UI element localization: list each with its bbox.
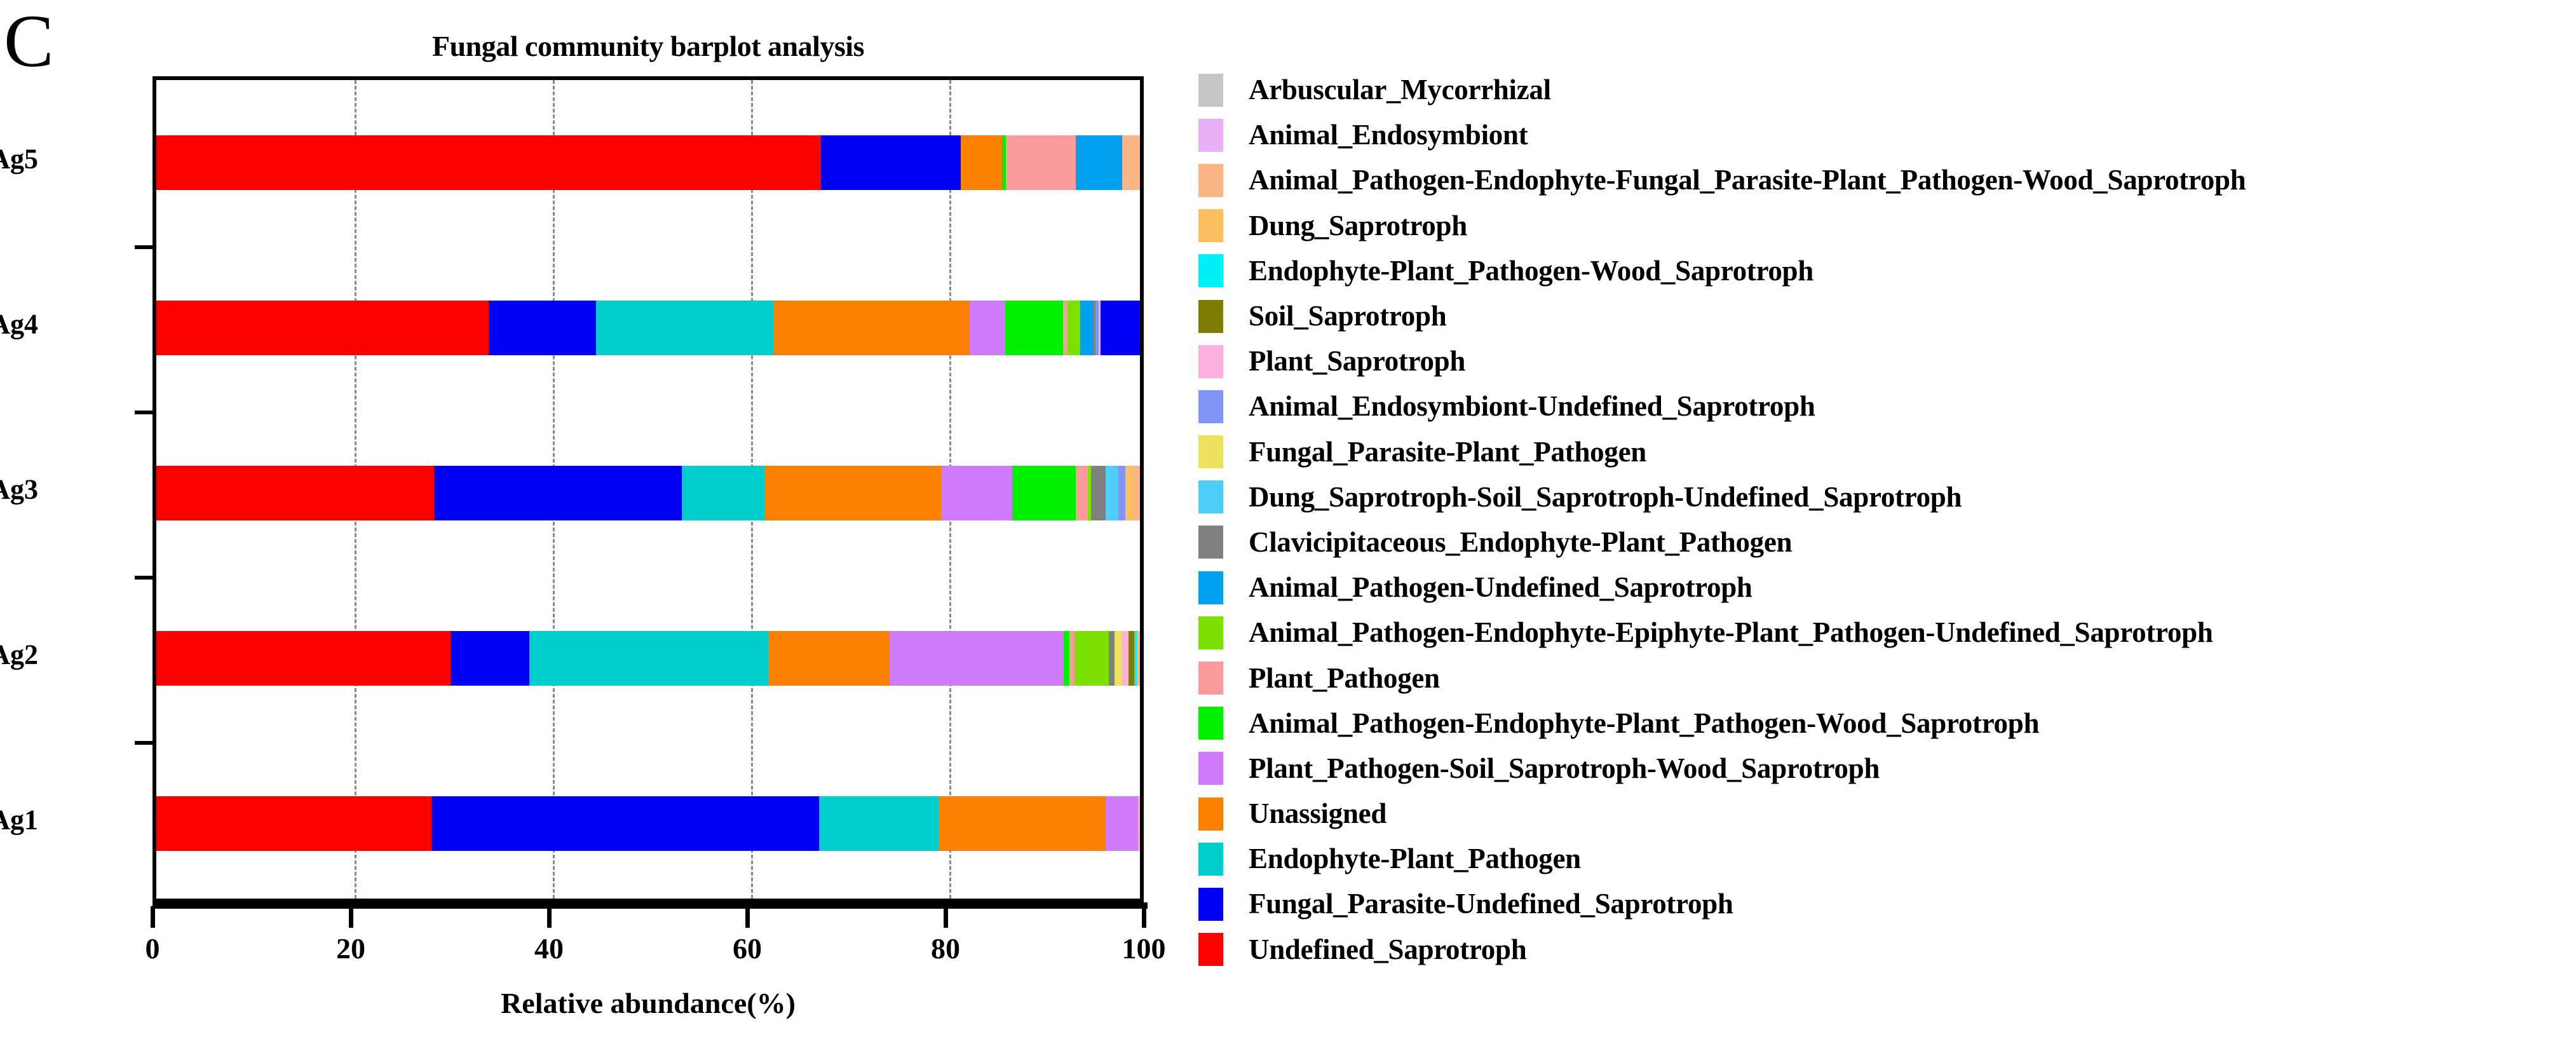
legend-item[interactable]: Animal_Pathogen-Endophyte-Epiphyte-Plant…: [1198, 610, 2576, 655]
bar-ag4[interactable]: [156, 301, 1140, 355]
bar-segment[interactable]: [1106, 796, 1138, 851]
bar-segment[interactable]: [1076, 466, 1088, 520]
bar-segment[interactable]: [941, 466, 1012, 520]
bar-segment[interactable]: [451, 631, 529, 686]
bar-segment[interactable]: [1122, 135, 1140, 190]
legend-swatch-icon: [1198, 888, 1223, 921]
y-axis-label-ag5: Ag5: [0, 143, 38, 175]
x-axis-tick-label: 0: [146, 932, 160, 965]
x-axis-title: Relative abundance(%): [153, 986, 1144, 1020]
x-axis-tick-label: 80: [931, 932, 960, 965]
bar-segment[interactable]: [1106, 466, 1118, 520]
bar-segment[interactable]: [819, 796, 938, 851]
legend-swatch-icon: [1198, 345, 1223, 378]
legend-item[interactable]: Animal_Pathogen-Endophyte-Plant_Pathogen…: [1198, 701, 2576, 746]
legend-label: Animal_Pathogen-Endophyte-Fungal_Parasit…: [1249, 166, 2246, 194]
x-axis-tick-label: 40: [534, 932, 564, 965]
bar-segment[interactable]: [821, 135, 961, 190]
legend-label: Dung_Saprotroph-Soil_Saprotroph-Undefine…: [1249, 483, 1962, 512]
legend-label: Animal_Pathogen-Endophyte-Plant_Pathogen…: [1249, 709, 2039, 738]
legend-swatch-icon: [1198, 119, 1223, 152]
bar-segment[interactable]: [156, 796, 431, 851]
plot-area: [153, 76, 1144, 902]
legend-swatch-icon: [1198, 526, 1223, 559]
legend-item[interactable]: Fungal_Parasite-Undefined_Saprotroph: [1198, 881, 2576, 927]
y-axis-tick: [135, 741, 156, 745]
legend-swatch-icon: [1198, 254, 1223, 287]
bar-segment[interactable]: [764, 466, 942, 520]
legend-item[interactable]: Animal_Pathogen-Endophyte-Fungal_Parasit…: [1198, 158, 2576, 203]
legend-swatch-icon: [1198, 798, 1223, 831]
bar-segment[interactable]: [1122, 631, 1129, 686]
y-axis-label-ag4: Ag4: [0, 308, 38, 341]
legend-item[interactable]: Animal_Endosymbiont: [1198, 112, 2576, 158]
bar-segment[interactable]: [1080, 301, 1093, 355]
x-axis-tick-label: 60: [733, 932, 762, 965]
legend-item[interactable]: Animal_Endosymbiont-Undefined_Saprotroph: [1198, 384, 2576, 429]
bar-ag3[interactable]: [156, 466, 1140, 520]
legend: Arbuscular_MycorrhizalAnimal_Endosymbion…: [1198, 67, 2576, 972]
bar-segment[interactable]: [1064, 631, 1069, 686]
legend-item[interactable]: Arbuscular_Mycorrhizal: [1198, 67, 2576, 112]
legend-label: Animal_Endosymbiont: [1249, 121, 1528, 149]
y-axis-label-ag1: Ag1: [0, 804, 38, 836]
legend-label: Soil_Saprotroph: [1249, 302, 1446, 330]
legend-swatch-icon: [1198, 164, 1223, 197]
x-axis-tick-label: 100: [1122, 932, 1166, 965]
legend-label: Animal_Pathogen-Undefined_Saprotroph: [1249, 573, 1752, 602]
bar-segment[interactable]: [1074, 631, 1109, 686]
bar-segment[interactable]: [1125, 466, 1133, 520]
legend-item[interactable]: Clavicipitaceous_Endophyte-Plant_Pathoge…: [1198, 520, 2576, 565]
legend-label: Fungal_Parasite-Undefined_Saprotroph: [1249, 890, 1733, 918]
legend-label: Clavicipitaceous_Endophyte-Plant_Pathoge…: [1249, 528, 1792, 557]
bar-segment[interactable]: [434, 466, 682, 520]
bar-segment[interactable]: [773, 301, 970, 355]
bar-segment[interactable]: [961, 135, 1002, 190]
bar-ag2[interactable]: [156, 631, 1140, 686]
legend-label: Dung_Saprotroph: [1249, 212, 1467, 240]
bar-segment[interactable]: [682, 466, 764, 520]
legend-item[interactable]: Dung_Saprotroph-Soil_Saprotroph-Undefine…: [1198, 475, 2576, 520]
bar-segment[interactable]: [1118, 466, 1125, 520]
legend-swatch-icon: [1198, 843, 1223, 876]
legend-label: Plant_Pathogen-Soil_Saprotroph-Wood_Sapr…: [1249, 754, 1880, 783]
legend-item[interactable]: Plant_Pathogen-Soil_Saprotroph-Wood_Sapr…: [1198, 746, 2576, 791]
legend-label: Endophyte-Plant_Pathogen-Wood_Saprotroph: [1249, 257, 1813, 285]
legend-item[interactable]: Unassigned: [1198, 791, 2576, 836]
legend-label: Plant_Saprotroph: [1249, 347, 1465, 376]
legend-swatch-icon: [1198, 74, 1223, 107]
bar-segment[interactable]: [1069, 631, 1074, 686]
legend-swatch-icon: [1198, 662, 1223, 695]
legend-item[interactable]: Undefined_Saprotroph: [1198, 927, 2576, 972]
bar-segment[interactable]: [1091, 466, 1106, 520]
bar-segment[interactable]: [1068, 301, 1080, 355]
bar-segment[interactable]: [1109, 631, 1115, 686]
x-axis-tick: [745, 906, 750, 928]
chart-region: Fungal community barplot analysis Ag5Ag4…: [0, 0, 1195, 1039]
legend-label: Animal_Pathogen-Endophyte-Epiphyte-Plant…: [1249, 618, 2213, 647]
y-axis-tick: [135, 245, 156, 249]
bar-segment[interactable]: [768, 631, 890, 686]
y-axis-label-ag2: Ag2: [0, 639, 38, 671]
bar-segment[interactable]: [156, 631, 451, 686]
legend-swatch-icon: [1198, 390, 1223, 423]
x-axis-tick: [1142, 906, 1146, 928]
legend-swatch-icon: [1198, 209, 1223, 242]
x-axis-tick-label: 20: [336, 932, 365, 965]
bar-segment[interactable]: [1137, 631, 1140, 686]
legend-item[interactable]: Endophyte-Plant_Pathogen-Wood_Saprotroph: [1198, 248, 2576, 294]
legend-label: Unassigned: [1249, 799, 1386, 828]
legend-label: Animal_Endosymbiont-Undefined_Saprotroph: [1249, 392, 1815, 421]
bar-segment[interactable]: [939, 796, 1106, 851]
y-axis-label-ag3: Ag3: [0, 473, 38, 506]
legend-swatch-icon: [1198, 300, 1223, 333]
bar-segment[interactable]: [1076, 135, 1122, 190]
bar-segment[interactable]: [156, 135, 821, 190]
legend-label: Arbuscular_Mycorrhizal: [1249, 76, 1551, 104]
bar-segment[interactable]: [890, 631, 1063, 686]
bar-segment[interactable]: [1006, 135, 1076, 190]
legend-label: Endophyte-Plant_Pathogen: [1249, 845, 1581, 873]
bar-segment[interactable]: [1129, 631, 1134, 686]
legend-label: Plant_Pathogen: [1249, 664, 1440, 693]
bar-ag1[interactable]: [156, 796, 1140, 851]
legend-item[interactable]: Dung_Saprotroph: [1198, 203, 2576, 248]
legend-swatch-icon: [1198, 480, 1223, 513]
bar-segment[interactable]: [489, 301, 596, 355]
x-axis-line: [153, 902, 1148, 909]
legend-item[interactable]: Plant_Pathogen: [1198, 655, 2576, 700]
bar-segment[interactable]: [1133, 466, 1140, 520]
bar-segment[interactable]: [596, 301, 773, 355]
legend-item[interactable]: Endophyte-Plant_Pathogen: [1198, 836, 2576, 881]
legend-item[interactable]: Soil_Saprotroph: [1198, 294, 2576, 339]
bar-segment[interactable]: [1005, 301, 1063, 355]
bar-segment[interactable]: [1138, 796, 1140, 851]
x-axis-tick: [547, 906, 552, 928]
bar-ag5[interactable]: [156, 135, 1140, 190]
legend-item[interactable]: Fungal_Parasite-Plant_Pathogen: [1198, 430, 2576, 475]
y-axis-tick: [135, 411, 156, 414]
legend-swatch-icon: [1198, 752, 1223, 785]
bar-segment[interactable]: [1115, 631, 1122, 686]
bar-segment[interactable]: [1012, 466, 1076, 520]
legend-swatch-icon: [1198, 933, 1223, 966]
x-axis-tick: [944, 906, 948, 928]
bar-segment[interactable]: [970, 301, 1005, 355]
legend-swatch-icon: [1198, 435, 1223, 468]
legend-label: Fungal_Parasite-Plant_Pathogen: [1249, 438, 1646, 466]
legend-label: Undefined_Saprotroph: [1249, 935, 1526, 964]
bar-segment[interactable]: [529, 631, 769, 686]
bar-segment[interactable]: [156, 301, 489, 355]
chart-title: Fungal community barplot analysis: [153, 29, 1144, 63]
bar-segment[interactable]: [156, 466, 434, 520]
y-axis-tick: [135, 576, 156, 580]
legend-item[interactable]: Animal_Pathogen-Undefined_Saprotroph: [1198, 565, 2576, 610]
x-axis-tick: [349, 906, 353, 928]
legend-swatch-icon: [1198, 707, 1223, 740]
legend-swatch-icon: [1198, 616, 1223, 649]
bar-segment[interactable]: [1101, 301, 1140, 355]
legend-swatch-icon: [1198, 571, 1223, 604]
bar-segment[interactable]: [431, 796, 819, 851]
legend-item[interactable]: Plant_Saprotroph: [1198, 339, 2576, 384]
x-axis-tick: [151, 906, 155, 928]
